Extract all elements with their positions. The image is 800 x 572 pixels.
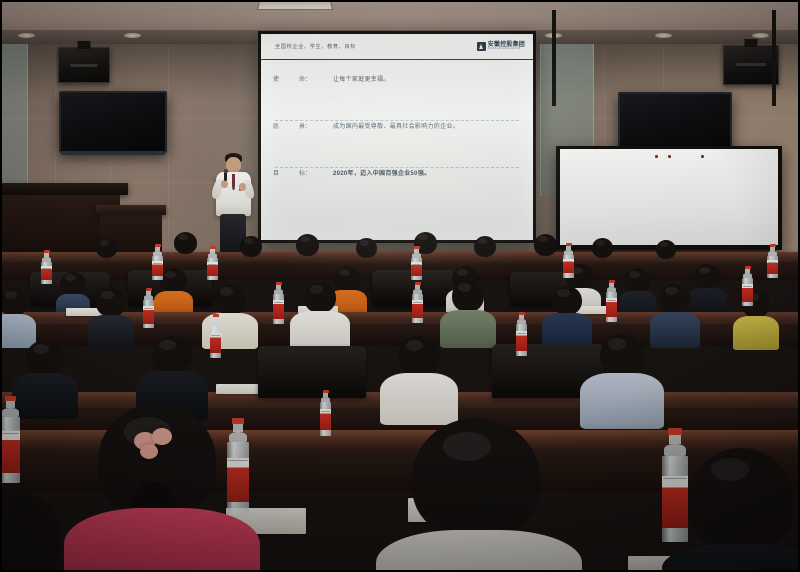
bottle-label xyxy=(152,261,163,276)
slide-row-key: 使 xyxy=(273,74,299,83)
person-head xyxy=(304,282,336,313)
display-base xyxy=(61,151,165,155)
bottle-label xyxy=(210,333,221,353)
person-head xyxy=(0,288,28,316)
wall-seam xyxy=(168,46,169,242)
person-head xyxy=(0,492,62,572)
bottle-label xyxy=(320,409,331,430)
speaker-bracket xyxy=(745,39,758,47)
bottle-label xyxy=(662,476,688,528)
person-torso xyxy=(580,373,664,429)
person-head xyxy=(534,234,557,256)
whiteboard-surface xyxy=(560,149,778,245)
whiteboard-magnet xyxy=(655,155,658,158)
slide-row-text: 成为国内最受尊敬、最具社会影响力的企业。 xyxy=(333,121,459,130)
person-head xyxy=(694,264,721,290)
slide-row-sublabel: 标： xyxy=(299,168,333,177)
person-head xyxy=(152,336,192,374)
bottle-body xyxy=(412,294,423,323)
hair-tie xyxy=(140,444,158,459)
water-bottle xyxy=(207,246,218,280)
bottle-body xyxy=(227,442,249,514)
microphone-head xyxy=(224,169,228,173)
company-logo-text: 安徽控股集团 ANHUI HOLDING GROUP xyxy=(488,42,525,51)
bottle-label xyxy=(143,306,154,324)
person-torso xyxy=(662,544,800,572)
person-head xyxy=(214,284,246,315)
ceiling-downlight xyxy=(18,33,35,38)
person-torso xyxy=(0,314,36,348)
speaker-grille xyxy=(70,64,98,67)
bottle-body xyxy=(152,256,163,280)
whiteboard-leg xyxy=(552,10,556,106)
person-torso xyxy=(12,373,78,419)
whiteboard xyxy=(556,146,782,250)
bottle-body xyxy=(767,256,778,278)
company-logo: 安徽控股集团 ANHUI HOLDING GROUP xyxy=(477,42,525,51)
lecture-desk xyxy=(0,252,800,262)
slide-row: 愿 景： 成为国内最受尊敬、最具社会影响力的企业。 xyxy=(273,121,521,167)
ceiling xyxy=(0,0,800,34)
slide-row-text: 让每个家庭更幸福。 xyxy=(333,74,390,83)
person-head xyxy=(296,234,319,256)
bottle-body xyxy=(0,417,20,483)
whiteboard-leg xyxy=(772,10,776,106)
person-head xyxy=(160,268,187,293)
slide-row-text: 2020年，迈入中国百强企业50强。 xyxy=(333,168,430,177)
presenter-head xyxy=(226,157,241,173)
podium xyxy=(96,205,166,215)
bottle-body xyxy=(210,326,221,358)
person-head xyxy=(624,268,650,293)
person-head xyxy=(398,336,440,376)
person-head xyxy=(26,340,64,376)
bottle-body xyxy=(411,258,422,280)
water-bottle xyxy=(143,288,154,328)
person-head xyxy=(60,272,86,296)
water-bottle xyxy=(0,396,20,483)
person-head xyxy=(240,236,262,257)
projection-screen: 全国校企业、学生、教育、目标 安徽控股集团 ANHUI HOLDING GROU… xyxy=(258,31,536,243)
person-head xyxy=(660,284,690,314)
person-torso xyxy=(440,310,496,348)
lecture-hall-photo: 全国校企业、学生、教育、目标 安徽控股集团 ANHUI HOLDING GROU… xyxy=(0,0,800,572)
company-logo-mark xyxy=(477,42,486,51)
bottle-label xyxy=(411,262,422,276)
bottle-body xyxy=(320,402,331,436)
person-torso xyxy=(380,373,458,425)
person-head xyxy=(452,280,484,312)
bottle-neck xyxy=(233,424,243,432)
whiteboard-magnet xyxy=(701,155,704,158)
bottle-body xyxy=(742,278,753,306)
person-torso xyxy=(733,316,779,350)
bottle-label xyxy=(41,266,52,280)
company-logo-tagline: ANHUI HOLDING GROUP xyxy=(488,48,525,51)
water-bottle xyxy=(320,390,331,436)
bottle-label xyxy=(412,300,423,318)
bottle-label xyxy=(563,259,574,273)
hair-tie xyxy=(152,428,172,445)
bottle-body xyxy=(273,294,284,324)
person-head xyxy=(412,418,540,538)
bottle-label xyxy=(742,284,753,302)
speaker-grille xyxy=(736,63,766,66)
slide-row: 使 命： 让每个家庭更幸福。 xyxy=(273,74,521,120)
water-bottle xyxy=(742,266,753,306)
slide-row-sublabel: 景： xyxy=(299,121,333,130)
presenter-tie xyxy=(232,174,235,190)
person-head xyxy=(96,238,117,258)
person-head xyxy=(688,448,794,552)
bottle-body xyxy=(563,255,574,278)
water-bottle xyxy=(767,244,778,278)
slide-title: 全国校企业、学生、教育、目标 xyxy=(275,43,356,50)
speaker-bracket xyxy=(78,41,91,49)
bottle-shoulder xyxy=(229,432,247,442)
water-bottle xyxy=(273,282,284,324)
person-torso xyxy=(64,508,260,572)
water-bottle xyxy=(662,428,688,542)
bottle-cap xyxy=(668,428,682,435)
slide-row: 目 标： 2020年，迈入中国百强企业50强。 xyxy=(273,168,521,214)
slide-row-sublabel: 命： xyxy=(299,74,333,83)
av-cabinet xyxy=(0,183,128,195)
slide-row-key: 目 xyxy=(273,168,299,177)
bottle-body xyxy=(41,262,52,284)
person-head xyxy=(600,334,644,376)
wall-display-left xyxy=(59,91,167,153)
bottle-body xyxy=(516,324,527,356)
person-head xyxy=(96,288,126,317)
water-bottle xyxy=(210,314,221,358)
person-torso xyxy=(88,315,134,349)
bottle-neck xyxy=(669,435,681,444)
wall-speaker-right xyxy=(723,45,779,85)
presenter-hand-left xyxy=(221,180,228,188)
bottle-label xyxy=(516,331,527,351)
bottle-label xyxy=(767,260,778,274)
person-head xyxy=(656,240,676,259)
person-torso xyxy=(650,312,700,348)
water-bottle xyxy=(152,244,163,280)
bottle-label xyxy=(273,300,284,319)
person-head xyxy=(474,236,496,257)
seat-back xyxy=(258,346,366,398)
person-torso xyxy=(290,311,350,349)
microphone xyxy=(224,172,227,181)
person-head xyxy=(356,238,377,258)
slide-row-key: 愿 xyxy=(273,121,299,130)
slide-body: 使 命： 让每个家庭更幸福。 愿 景： 成为国内最受尊敬、最具社会影响力的企业。… xyxy=(261,60,533,222)
ceiling-light-panel xyxy=(257,1,333,10)
bottle-label xyxy=(0,431,20,473)
bottle-body xyxy=(207,258,218,280)
bottle-body xyxy=(662,456,688,542)
presenter-hand-right xyxy=(239,183,246,191)
bottle-label xyxy=(227,458,249,502)
bottle-body xyxy=(606,292,617,322)
person-head xyxy=(174,232,197,254)
bottle-label xyxy=(606,298,617,317)
water-bottle xyxy=(516,312,527,356)
presentation-slide: 全国校企业、学生、教育、目标 安徽控股集团 ANHUI HOLDING GROU… xyxy=(261,34,533,240)
ceiling-downlight xyxy=(655,33,672,38)
ceiling-downlight xyxy=(124,33,141,38)
slide-header: 全国校企业、学生、教育、目标 安徽控股集团 ANHUI HOLDING GROU… xyxy=(261,34,533,60)
water-bottle xyxy=(227,418,249,514)
water-bottle xyxy=(606,280,617,322)
water-bottle xyxy=(563,243,574,278)
bottle-shoulder xyxy=(664,444,686,456)
water-bottle xyxy=(411,246,422,280)
bottle-label xyxy=(207,262,218,276)
water-bottle xyxy=(41,250,52,284)
person-head xyxy=(552,286,582,315)
person-torso xyxy=(376,530,582,572)
bottle-neck xyxy=(6,401,15,408)
bottle-body xyxy=(143,300,154,328)
whiteboard-magnet xyxy=(668,155,671,158)
ceiling-downlight xyxy=(752,33,769,38)
bottle-shoulder xyxy=(2,408,19,417)
person-head xyxy=(334,266,361,292)
wall-speaker-left xyxy=(58,47,110,83)
water-bottle xyxy=(412,282,423,323)
person-head xyxy=(592,238,613,258)
